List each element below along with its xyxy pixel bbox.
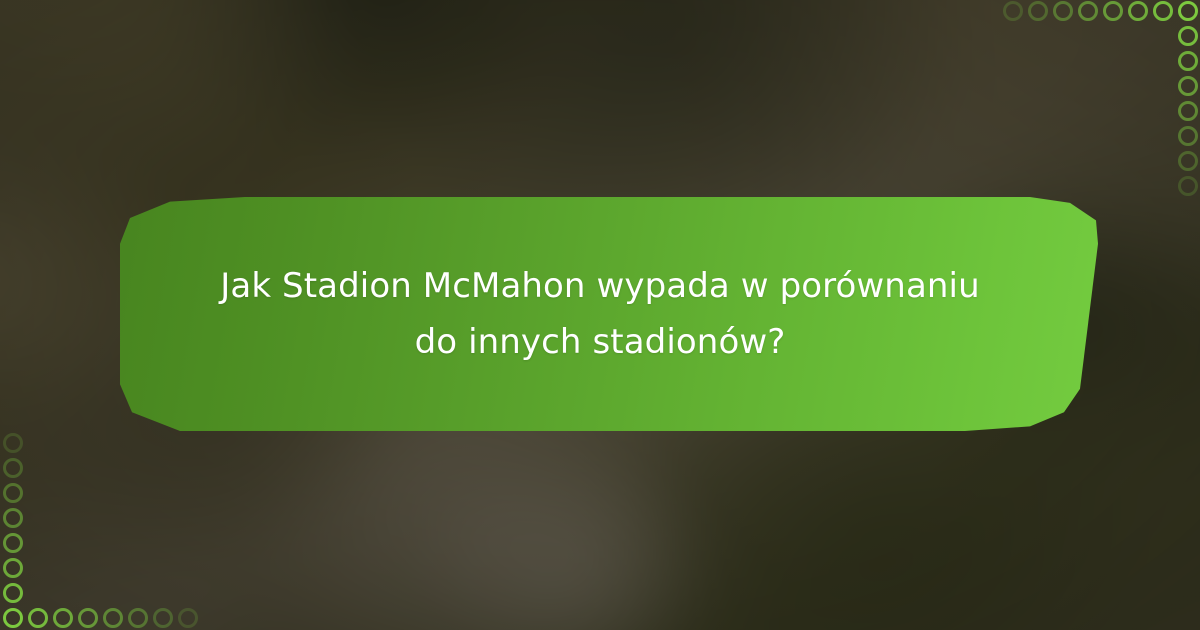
headline-line-2: do innych stadionów? (415, 314, 786, 370)
headline-banner: Jak Stadion McMahon wypada w porównaniu … (100, 197, 1100, 431)
promo-card: Jak Stadion McMahon wypada w porównaniu … (0, 0, 1200, 630)
headline-line-1: Jak Stadion McMahon wypada w porównaniu (220, 258, 979, 314)
headline-text-block: Jak Stadion McMahon wypada w porównaniu … (100, 197, 1100, 431)
